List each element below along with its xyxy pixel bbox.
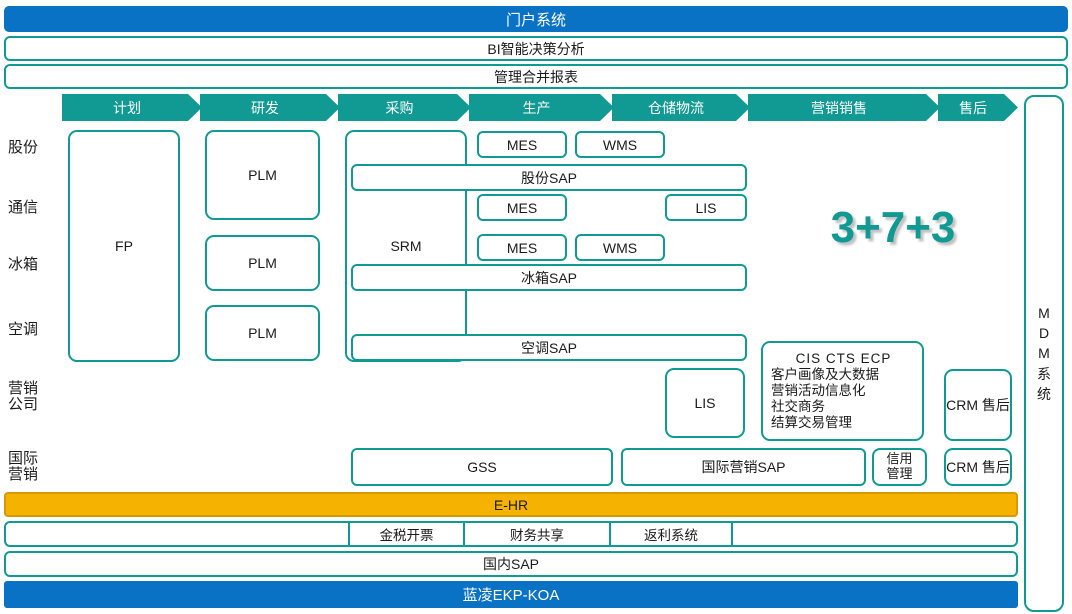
cis-cts-ecp-heading: CIS CTS ECP [796, 351, 892, 367]
crm-after-sales-box-1[interactable]: CRM 售后 [944, 369, 1012, 441]
plm-box-shares[interactable]: PLM [205, 130, 320, 220]
row-label-aircon: 空调 [8, 317, 64, 343]
fp-box[interactable]: FP [68, 130, 180, 362]
fridge-sap-bar[interactable]: 冰箱SAP [351, 264, 747, 291]
finance-cell-tax-invoice[interactable]: 金税开票 [350, 523, 465, 545]
mes-box-fridge[interactable]: MES [477, 234, 567, 261]
row-label-marketing-company: 营销 公司 [8, 379, 64, 415]
crm-after-sales-box-2[interactable]: CRM 售后 [944, 448, 1012, 486]
bi-analysis-bar: BI智能决策分析 [4, 36, 1068, 61]
architecture-diagram: 门户系统 BI智能决策分析 管理合并报表 计划 研发 采购 生产 仓储物流 营销… [0, 0, 1072, 614]
lanling-ekp-koa-bar[interactable]: 蓝凌EKP-KOA [4, 581, 1018, 608]
portal-system-bar: 门户系统 [4, 6, 1068, 32]
finance-cell-blank-left [6, 523, 350, 545]
cis-cts-ecp-box[interactable]: CIS CTS ECP 客户画像及大数据 营销活动信息化 社交商务 结算交易管理 [761, 341, 924, 441]
lis-box-telecom[interactable]: LIS [665, 194, 747, 221]
chevron-marketing-sales[interactable]: 营销销售 [748, 94, 940, 121]
chevron-purchase[interactable]: 采购 [338, 94, 471, 121]
mdm-system-column[interactable]: M D M 系 统 [1024, 95, 1064, 612]
chevron-after-sales[interactable]: 售后 [938, 94, 1018, 121]
row-label-shares: 股份 [8, 135, 64, 161]
plm-box-fridge[interactable]: PLM [205, 235, 320, 291]
row-label-intl-marketing: 国际 营销 [8, 449, 64, 485]
plm-box-aircon[interactable]: PLM [205, 305, 320, 361]
shares-sap-bar[interactable]: 股份SAP [351, 164, 747, 191]
intl-marketing-sap-bar[interactable]: 国际营销SAP [621, 448, 866, 486]
credit-management-box[interactable]: 信用 管理 [872, 448, 927, 486]
row-label-fridge: 冰箱 [8, 252, 64, 278]
gss-bar[interactable]: GSS [351, 448, 613, 486]
finance-cell-blank-right [733, 523, 1016, 545]
finance-strip: 金税开票 财务共享 返利系统 [4, 521, 1018, 547]
formula-3-7-3: 3+7+3 [808, 200, 978, 256]
chevron-plan[interactable]: 计划 [62, 94, 202, 121]
wms-box-shares[interactable]: WMS [575, 131, 665, 158]
management-report-bar: 管理合并报表 [4, 64, 1068, 89]
ehr-bar[interactable]: E-HR [4, 492, 1018, 517]
mes-box-shares[interactable]: MES [477, 131, 567, 158]
cis-cts-ecp-lines: 客户画像及大数据 营销活动信息化 社交商务 结算交易管理 [771, 367, 879, 431]
finance-cell-shared-service[interactable]: 财务共享 [465, 523, 611, 545]
wms-box-fridge[interactable]: WMS [575, 234, 665, 261]
row-label-telecom: 通信 [8, 195, 64, 221]
finance-cell-rebate-system[interactable]: 返利系统 [611, 523, 733, 545]
domestic-sap-bar[interactable]: 国内SAP [4, 551, 1018, 577]
chevron-warehouse-logistics[interactable]: 仓储物流 [612, 94, 750, 121]
chevron-production[interactable]: 生产 [469, 94, 614, 121]
aircon-sap-bar[interactable]: 空调SAP [351, 334, 747, 361]
chevron-rd[interactable]: 研发 [200, 94, 340, 121]
lis-box-marketing[interactable]: LIS [665, 368, 745, 438]
mes-box-telecom[interactable]: MES [477, 194, 567, 221]
